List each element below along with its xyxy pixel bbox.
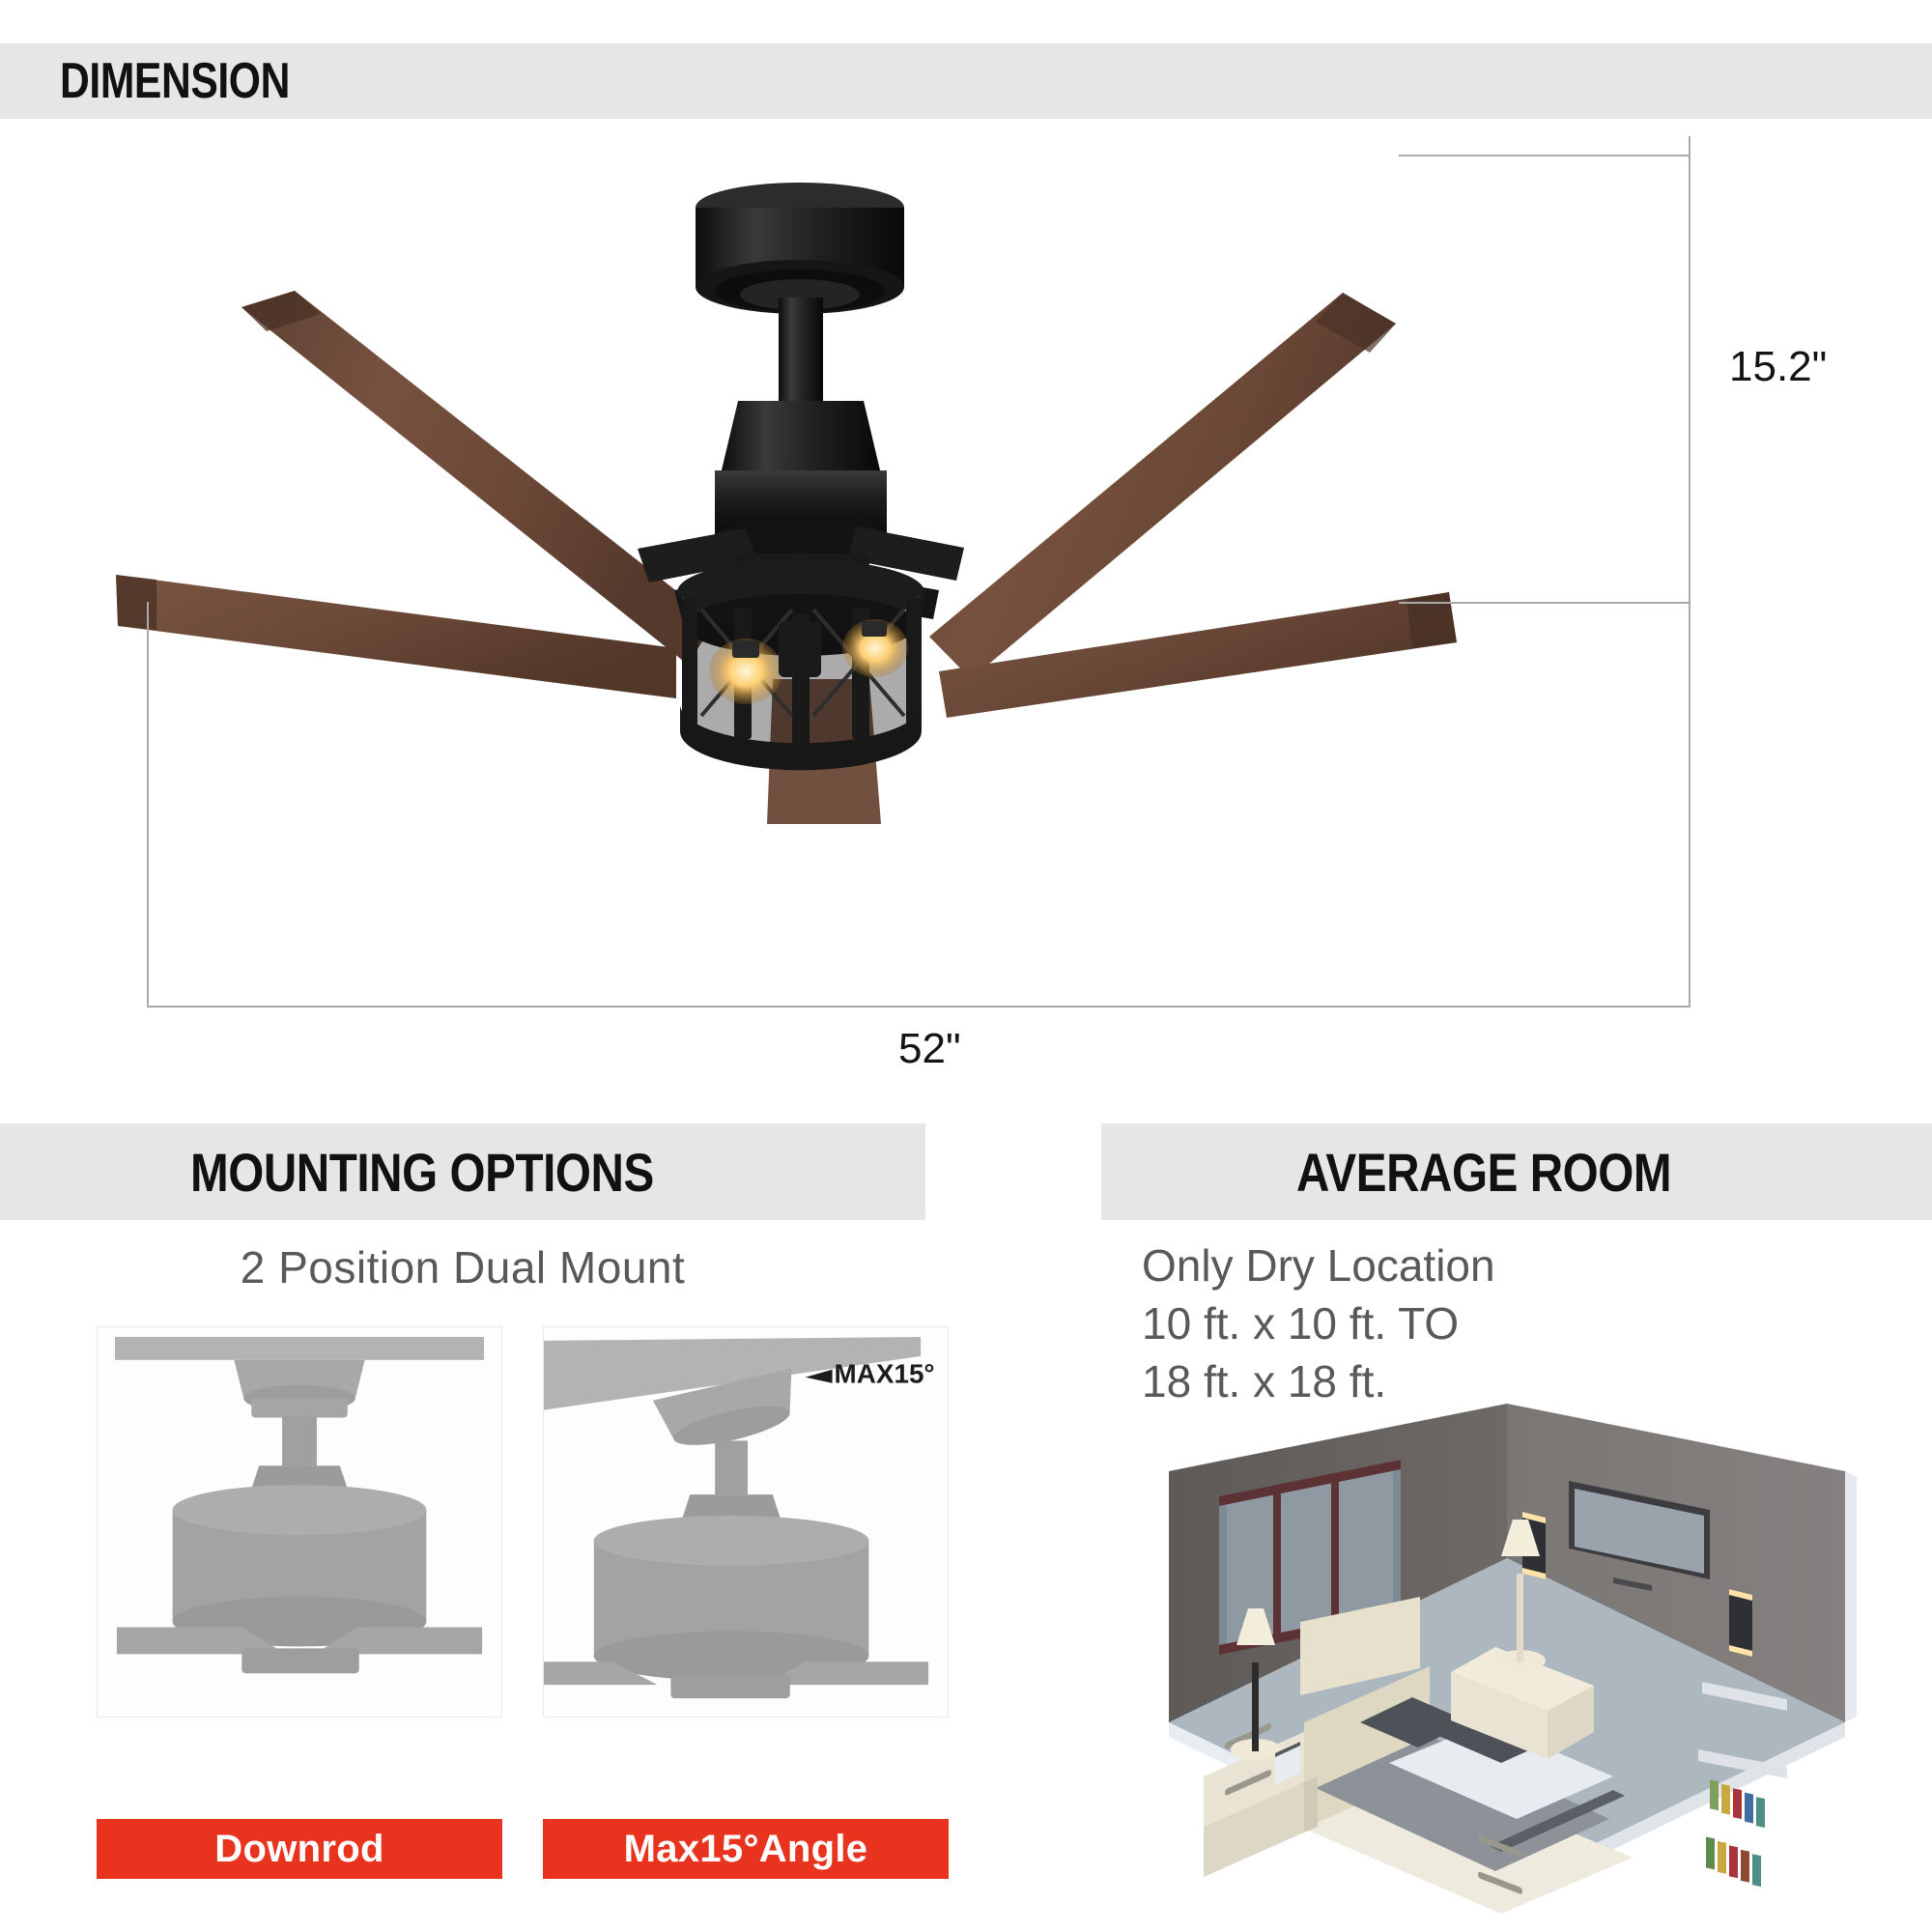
- angled-mount-svg: MAX15°: [544, 1327, 948, 1717]
- downrod-mount-svg: [98, 1327, 501, 1717]
- svg-text:MAX15°: MAX15°: [835, 1359, 935, 1389]
- angled-mount-diagram: MAX15°: [543, 1326, 949, 1718]
- edison-bulb-left: [709, 639, 782, 704]
- edison-bulb-right: [842, 619, 908, 677]
- downrod-mount-diagram: [97, 1326, 502, 1718]
- fan-canopy: [696, 183, 904, 314]
- width-dim-left-leader: [147, 602, 149, 1008]
- cage-light-fixture: [677, 559, 924, 770]
- bedroom-svg: [1111, 1404, 1903, 1930]
- dimension-section-title: DIMENSION: [60, 52, 290, 110]
- product-spec-page: DIMENSION: [0, 0, 1932, 1932]
- isometric-bedroom-illustration: [1111, 1404, 1903, 1930]
- room-text-line-3: 18 ft. x 18 ft.: [1142, 1353, 1495, 1411]
- average-room-section-title: AVERAGE ROOM: [1296, 1141, 1671, 1204]
- ceiling-fan-illustration: [97, 138, 1468, 834]
- height-dimension-label: 15.2": [1729, 343, 1827, 391]
- ceiling-fan-svg: [97, 138, 1468, 834]
- width-dim-line: [147, 1006, 1690, 1008]
- fan-blade-left: [116, 575, 676, 698]
- height-dim-lower-leader: [1399, 602, 1690, 604]
- room-text-line-2: 10 ft. x 10 ft. TO: [1142, 1295, 1495, 1353]
- max-angle-button[interactable]: Max15°Angle: [543, 1819, 949, 1879]
- fan-downrod: [779, 298, 823, 402]
- average-room-panel: Only Dry Location 10 ft. x 10 ft. TO 18 …: [1101, 1220, 1932, 1932]
- height-dim-line: [1689, 136, 1690, 619]
- width-dimension-label: 52": [898, 1025, 961, 1073]
- dimension-section-header: DIMENSION: [0, 43, 1932, 119]
- mounting-subtitle: 2 Position Dual Mount: [0, 1241, 925, 1293]
- mounting-section-title: MOUNTING OPTIONS: [190, 1141, 654, 1204]
- width-dim-right-leader: [1689, 602, 1690, 1008]
- downrod-button[interactable]: Downrod: [97, 1819, 502, 1879]
- mounting-section-header: MOUNTING OPTIONS: [0, 1123, 925, 1220]
- room-size-text: Only Dry Location 10 ft. x 10 ft. TO 18 …: [1142, 1237, 1495, 1410]
- dimension-diagram: 15.2" 52": [0, 119, 1932, 1094]
- mounting-options-panel: 2 Position Dual Mount: [0, 1220, 925, 1932]
- average-room-section-header: AVERAGE ROOM: [1101, 1123, 1932, 1220]
- height-dim-upper-leader: [1399, 155, 1690, 156]
- bedroom-sconce-right: [1729, 1589, 1752, 1657]
- room-text-line-1: Only Dry Location: [1142, 1237, 1495, 1295]
